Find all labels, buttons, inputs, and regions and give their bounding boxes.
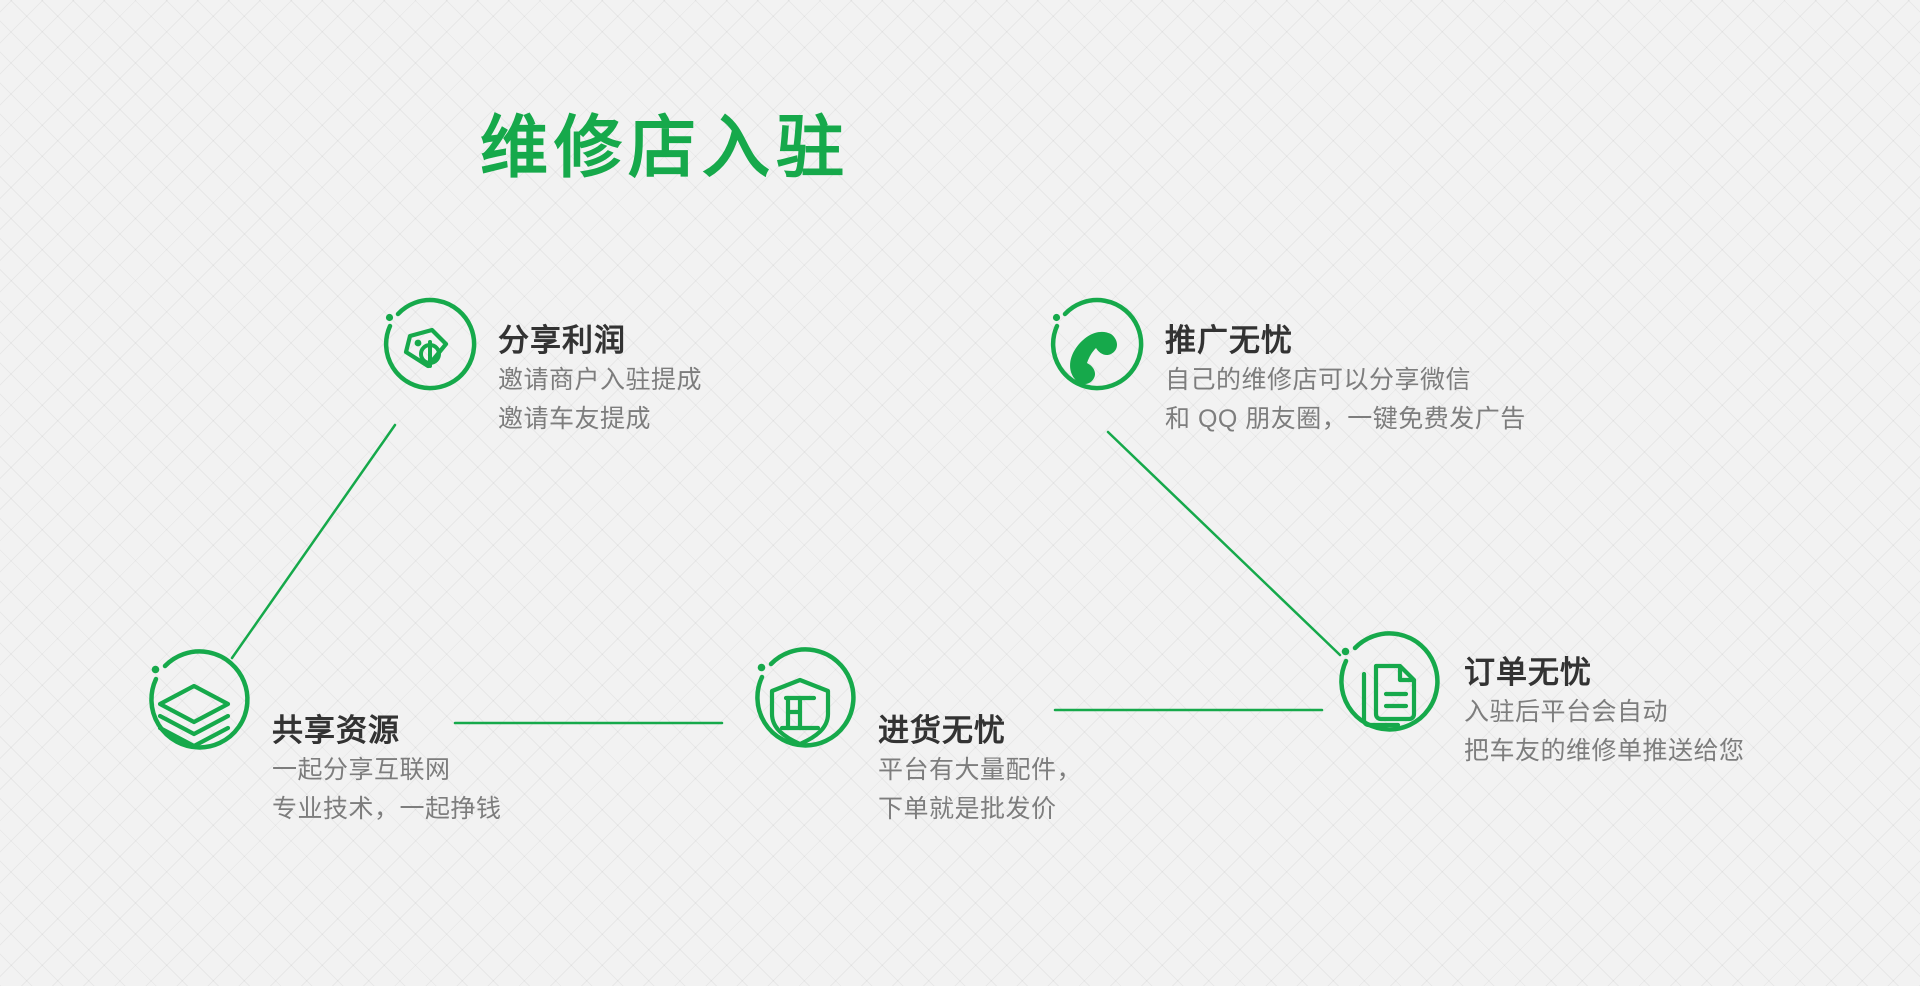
feature-profit-title: 分享利润 <box>498 322 626 361</box>
feature-promotion-text: 推广无忧 自己的维修店可以分享微信 和 QQ 朋友圈，一键免费发广告 <box>1165 318 1526 440</box>
layers-stack-icon <box>132 646 256 770</box>
feature-purchase-desc-2: 下单就是批发价 <box>878 790 1082 830</box>
feature-order[interactable]: 订单无忧 入驻后平台会自动 把车友的维修单推送给您 <box>1322 650 1745 772</box>
feature-purchase-text: 进货无忧 平台有大量配件， 下单就是批发价 <box>878 690 1082 830</box>
feature-purchase-title: 进货无忧 <box>878 712 1006 751</box>
documents-icon <box>1322 628 1446 752</box>
feature-order-desc-2: 把车友的维修单推送给您 <box>1464 732 1745 772</box>
page-title: 维修店入驻 <box>0 108 1330 190</box>
feature-promotion-desc-1: 自己的维修店可以分享微信 <box>1165 361 1526 401</box>
feature-resource-desc-1: 一起分享互联网 <box>272 751 502 791</box>
feature-promotion[interactable]: 推广无忧 自己的维修店可以分享微信 和 QQ 朋友圈，一键免费发广告 <box>1035 318 1526 440</box>
feature-resource[interactable]: 共享资源 一起分享互联网 专业技术，一起挣钱 <box>132 690 502 830</box>
feature-resource-title: 共享资源 <box>272 712 400 751</box>
feature-promotion-title: 推广无忧 <box>1165 322 1293 361</box>
feature-resource-desc-2: 专业技术，一起挣钱 <box>272 790 502 830</box>
shield-zheng-icon <box>738 644 862 768</box>
feature-purchase-desc-1: 平台有大量配件， <box>878 751 1082 791</box>
connector-profit-to-resource <box>232 425 395 658</box>
feature-profit[interactable]: 分享利润 邀请商户入驻提成 邀请车友提成 <box>368 318 702 440</box>
feature-order-title: 订单无忧 <box>1464 654 1592 693</box>
price-tag-dollar-icon <box>368 296 480 408</box>
infographic-canvas: 维修店入驻 分享利润 <box>0 0 1920 986</box>
connector-promotion-to-order <box>1108 432 1340 655</box>
feature-profit-desc-1: 邀请商户入驻提成 <box>498 361 702 401</box>
feature-purchase[interactable]: 进货无忧 平台有大量配件， 下单就是批发价 <box>738 690 1082 830</box>
feature-promotion-desc-2: 和 QQ 朋友圈，一键免费发广告 <box>1165 400 1526 440</box>
feature-resource-text: 共享资源 一起分享互联网 专业技术，一起挣钱 <box>272 690 502 830</box>
feature-profit-desc-2: 邀请车友提成 <box>498 400 702 440</box>
feature-profit-text: 分享利润 邀请商户入驻提成 邀请车友提成 <box>498 318 702 440</box>
feature-order-text: 订单无忧 入驻后平台会自动 把车友的维修单推送给您 <box>1464 650 1745 772</box>
phone-handset-icon <box>1035 296 1147 408</box>
feature-order-desc-1: 入驻后平台会自动 <box>1464 693 1745 733</box>
